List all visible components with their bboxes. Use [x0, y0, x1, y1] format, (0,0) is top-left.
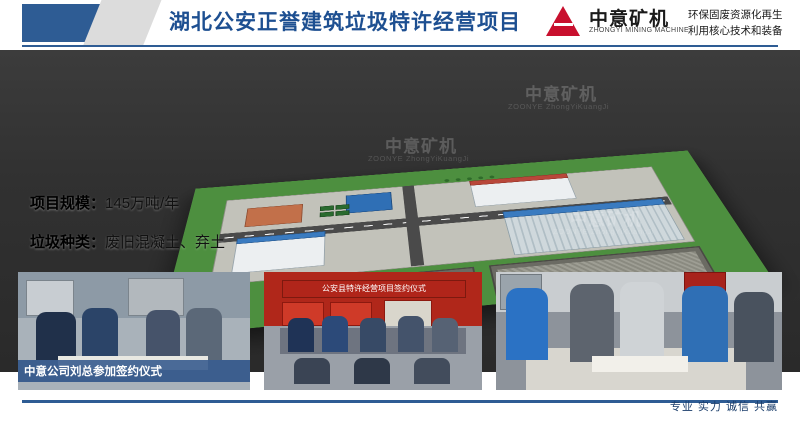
header-divider [22, 45, 778, 47]
photo-signing-ceremony: 公安县特许经营项目签约仪式 [264, 272, 482, 390]
slide-root: 湖北公安正誉建筑垃圾特许经营项目 中意矿机 ZHONGYI MINING MAC… [0, 0, 800, 438]
photo2-person [322, 316, 348, 352]
photo1-person [146, 310, 180, 360]
page-title: 湖北公安正誉建筑垃圾特许经营项目 [150, 8, 540, 38]
render-tree [444, 179, 449, 182]
spec-row-scale: 项目规模：145万吨/年 [30, 192, 330, 213]
footer-bar [0, 424, 800, 438]
render-tree [467, 177, 472, 180]
photo-signing-office: 中意公司刘总参加签约仪式 [18, 272, 250, 390]
photo1-person [186, 308, 222, 360]
photo-caption: 中意公司刘总参加签约仪式 [18, 360, 250, 382]
spec-value: 145万吨/年 [105, 195, 179, 212]
spec-key: 项目规模： [30, 195, 105, 212]
header-slogan-line1: 环保固废资源化再生 [688, 7, 783, 23]
header-slogan: 环保固废资源化再生 利用核心技术和装备 [688, 7, 783, 39]
photo-contract-desk [496, 272, 782, 390]
photo2-person-back [354, 358, 390, 384]
render-tree [489, 175, 495, 178]
spec-row-waste-type: 垃圾种类：废旧混凝土、弃土 [30, 231, 330, 252]
photo3-person [570, 284, 614, 362]
photo3-person-blue [506, 288, 548, 360]
photo3-person [734, 292, 774, 362]
photo3-contract-papers [592, 356, 688, 372]
logo-triangle-shape [546, 6, 580, 36]
spec-key: 垃圾种类： [30, 234, 105, 251]
photo-strip: 中意公司刘总参加签约仪式 公安县特许经营项目签约仪式 [18, 272, 782, 390]
watermark-subtext: ZOONYE ZhongYiKuangJi [553, 227, 654, 236]
photo3-person-blue [682, 286, 728, 362]
photo2-person [398, 316, 424, 352]
photo1-person [82, 308, 118, 360]
photo1-window [26, 280, 74, 316]
footer-slogan: 专业 实力 诚信 共赢 [670, 398, 778, 414]
spec-value: 废旧混凝土、弃土 [105, 234, 225, 251]
photo2-person [288, 318, 314, 352]
render-tree [478, 176, 484, 179]
footer-divider [22, 400, 778, 403]
header-slogan-line2: 利用核心技术和装备 [688, 23, 783, 39]
logo-bar-shape [554, 23, 573, 26]
photo2-banner-text: 公安县特许经营项目签约仪式 [282, 280, 466, 298]
photo3-person-white [620, 282, 664, 362]
photo2-person [360, 318, 386, 352]
photo2-person [432, 318, 458, 352]
watermark-subtext: ZOONYE ZhongYiKuangJi [508, 102, 609, 111]
photo1-person [36, 312, 76, 360]
photo2-person-back [414, 358, 450, 384]
brand-name-en: ZHONGYI MINING MACHINE [589, 27, 689, 34]
slide-header: 湖北公安正誉建筑垃圾特许经营项目 中意矿机 ZHONGYI MINING MAC… [0, 0, 800, 47]
photo2-person-back [294, 358, 330, 384]
zoonye-triangle-logo-icon [546, 4, 584, 42]
watermark-subtext: ZOONYE ZhongYiKuangJi [368, 154, 469, 163]
